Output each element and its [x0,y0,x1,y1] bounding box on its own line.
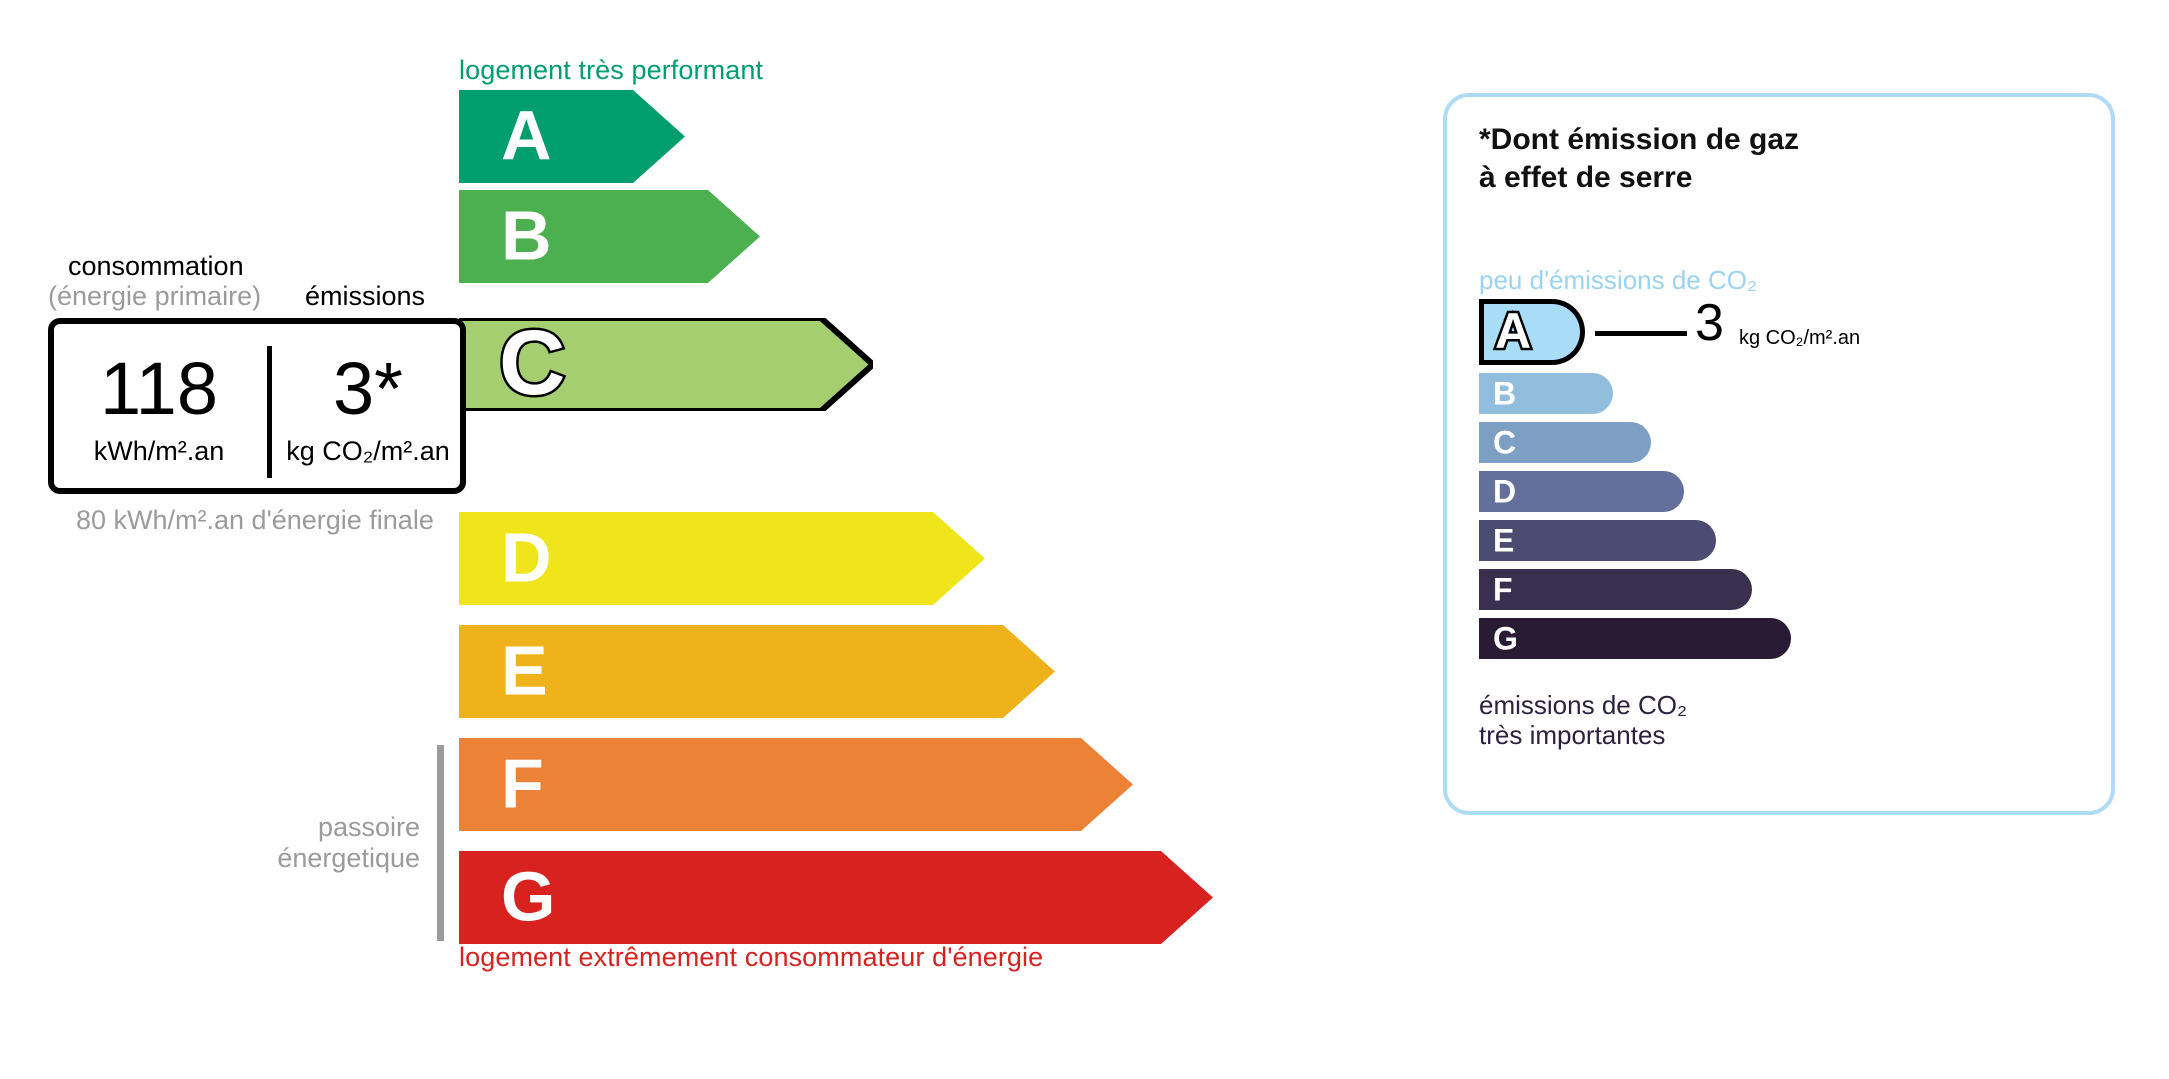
co2-bar-c: C [1479,422,1651,463]
co2-bar-letter: D [1493,475,1516,507]
co2-value-cell: 3* kg CO₂/m².an [270,324,466,488]
co2-panel-unit: kg CO₂/m².an [1739,327,1860,350]
co2-bar-e: E [1479,520,1716,561]
co2-bottom-caption: émissions de CO₂ très importantes [1479,690,1687,750]
energy-band-letter: A [501,100,552,170]
co2-bar-letter: C [1493,426,1516,458]
final-energy-note: 80 kWh/m².an d'énergie finale [76,505,434,536]
energy-band-letter: F [501,748,544,818]
energy-unit: kWh/m².an [54,436,264,466]
co2-leader-line [1595,331,1687,336]
energy-band-letter: D [501,522,552,592]
energy-band-shape [459,90,685,183]
energy-band-shape [459,738,1133,831]
energy-band-letter: G [501,861,555,931]
energy-band-f: F [459,738,1133,831]
co2-top-caption: peu d'émissions de CO₂ [1479,265,1757,296]
co2-bar-d: D [1479,471,1684,512]
energy-band-letter: B [501,200,552,270]
co2-bar-shape [1479,520,1716,561]
energy-band-letter: C [499,317,565,409]
energy-band-g: G [459,851,1213,944]
co2-bar-letter: E [1493,524,1514,556]
co2-bar-g: G [1479,618,1791,659]
co2-badge-left-edge [1479,299,1484,365]
co2-badge-letter: A [1495,306,1531,356]
co2-panel-title: *Dont émission de gaz à effet de serre [1479,121,1799,197]
energy-value: 118 [54,352,264,426]
passoire-marker-bar [437,745,444,941]
label-emissions: émissions [305,281,425,312]
energy-band-d: D [459,512,985,605]
co2-bar-f: F [1479,569,1752,610]
energy-band-b: B [459,190,760,283]
top-caption: logement très performant [459,55,763,86]
co2-bar-shape [1479,569,1752,610]
label-consumption-sub: (énergie primaire) [48,281,261,312]
co2-unit: kg CO₂/m².an [270,436,466,466]
co2-bar-letter: G [1493,622,1518,654]
energy-band-letter: E [501,635,548,705]
co2-selected-badge: A [1479,299,1585,365]
co2-value: 3* [270,352,466,426]
dpe-energy-ladder: logement très performant ABCDEFG logemen… [0,0,1380,1079]
co2-panel-value: 3 [1695,295,1724,351]
label-consumption: consommation [68,251,244,282]
energy-value-cell: 118 kWh/m².an [54,324,264,488]
energy-band-a: A [459,90,685,183]
energy-band-shape [459,851,1213,944]
energy-band-shape [459,625,1055,718]
bottom-caption: logement extrêmement consommateur d'éner… [459,942,1043,973]
energy-band-e: E [459,625,1055,718]
co2-bar-b: B [1479,373,1613,414]
consumption-value-box: 118 kWh/m².an 3* kg CO₂/m².an [48,318,466,494]
energy-band-c: C [459,318,873,411]
co2-bar-shape [1479,618,1791,659]
co2-bar-letter: B [1493,377,1516,409]
co2-panel: *Dont émission de gaz à effet de serre p… [1443,93,2115,815]
passoire-label: passoire énergetique [190,812,420,874]
co2-bar-letter: F [1493,573,1513,605]
